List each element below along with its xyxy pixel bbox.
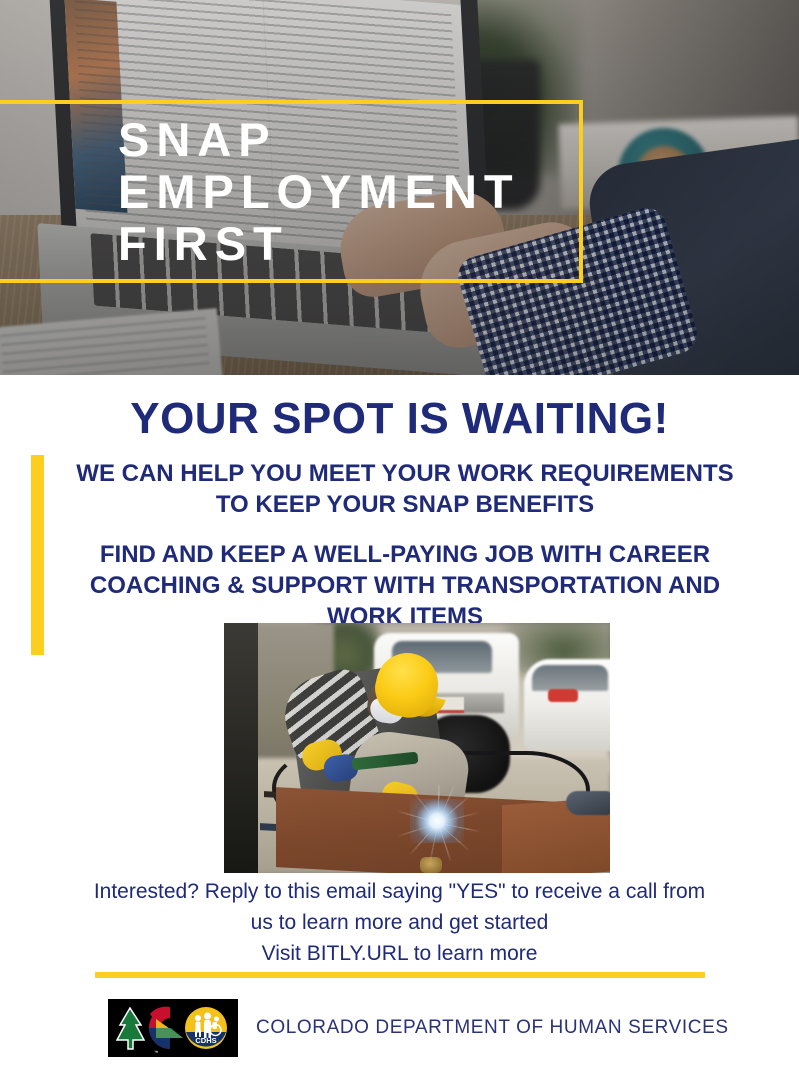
cta-line-3[interactable]: Visit BITLY.URL to learn more: [40, 938, 759, 969]
welder-photo-shoe: [566, 791, 610, 815]
hero-banner: SNAP EMPLOYMENT FIRST: [0, 0, 799, 375]
yellow-accent-bar: [31, 455, 44, 655]
footer-divider: [95, 972, 705, 978]
call-to-action: Interested? Reply to this email saying "…: [40, 876, 759, 969]
svg-text:™: ™: [154, 1050, 159, 1055]
welder-photo: [224, 623, 610, 873]
hero-title: SNAP EMPLOYMENT FIRST: [118, 114, 758, 270]
welder-photo-welding-spark: [410, 799, 464, 843]
colorado-cdhs-logo: CDHS ™: [108, 999, 238, 1057]
cdhs-roundel-icon: CDHS: [185, 1007, 227, 1049]
cdhs-logo-text: CDHS: [195, 1036, 216, 1045]
welder-photo-dark-edge: [224, 623, 258, 873]
subhead-work-requirements: WE CAN HELP YOU MEET YOUR WORK REQUIREME…: [60, 458, 750, 520]
welder-photo-car-window: [532, 665, 608, 691]
welder-photo-car-taillight: [548, 689, 578, 702]
subhead-career-coaching: FIND AND KEEP A WELL-PAYING JOB WITH CAR…: [60, 539, 750, 632]
cdhs-logo-icon: CDHS ™: [108, 999, 238, 1057]
footer-organization-name: COLORADO DEPARTMENT OF HUMAN SERVICES: [256, 1017, 729, 1039]
cta-line-1: Interested? Reply to this email saying "…: [40, 876, 759, 907]
flyer-page: SNAP EMPLOYMENT FIRST YOUR SPOT IS WAITI…: [0, 0, 799, 1065]
page-headline: YOUR SPOT IS WAITING!: [0, 394, 799, 444]
footer: CDHS ™ COLORADO DEPARTMENT OF HUMAN SERV…: [108, 999, 729, 1057]
cta-line-2: us to learn more and get started: [40, 907, 759, 938]
